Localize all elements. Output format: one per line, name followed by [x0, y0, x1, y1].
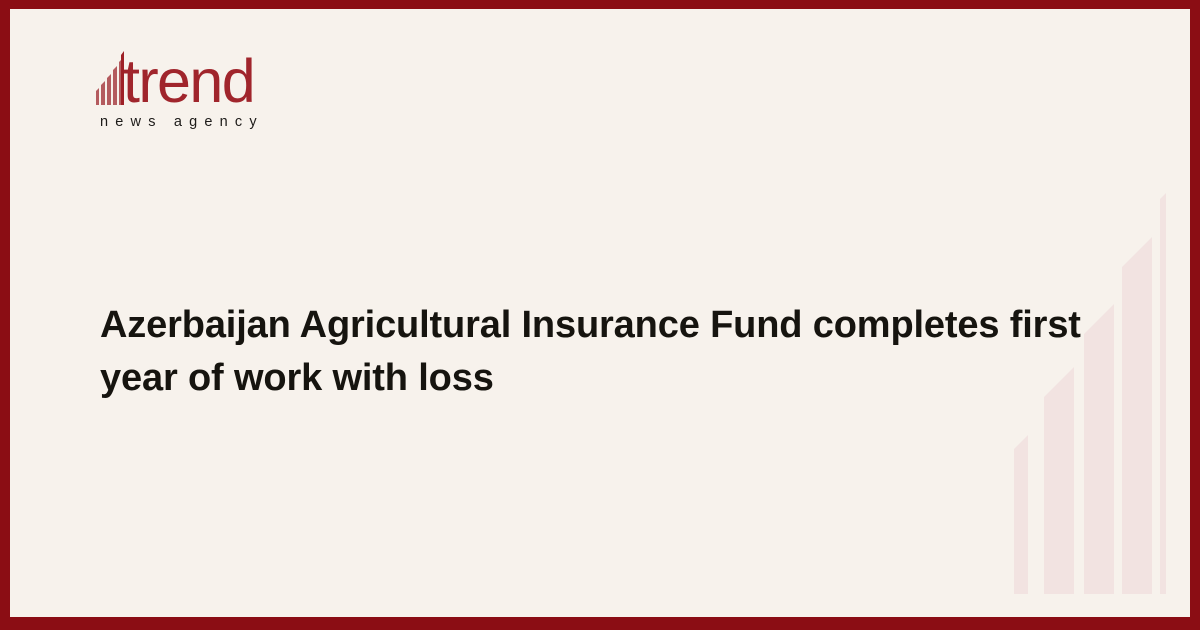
watermark-bar-1 [1014, 435, 1028, 594]
logo-wordmark-row: trend [96, 43, 366, 105]
trend-bars-icon [96, 51, 124, 105]
social-share-card: trend news agency Azerbaijan Agricultura… [0, 0, 1200, 630]
logo-wordmark-text: trend [123, 54, 254, 108]
watermark-bar-4 [1122, 237, 1152, 594]
article-headline: Azerbaijan Agricultural Insurance Fund c… [100, 299, 1100, 405]
watermark-bar-5 [1160, 193, 1166, 594]
brand-logo[interactable]: trend news agency [96, 43, 366, 130]
logo-tagline: news agency [100, 114, 366, 130]
card-content-area: trend news agency Azerbaijan Agricultura… [10, 9, 1190, 617]
